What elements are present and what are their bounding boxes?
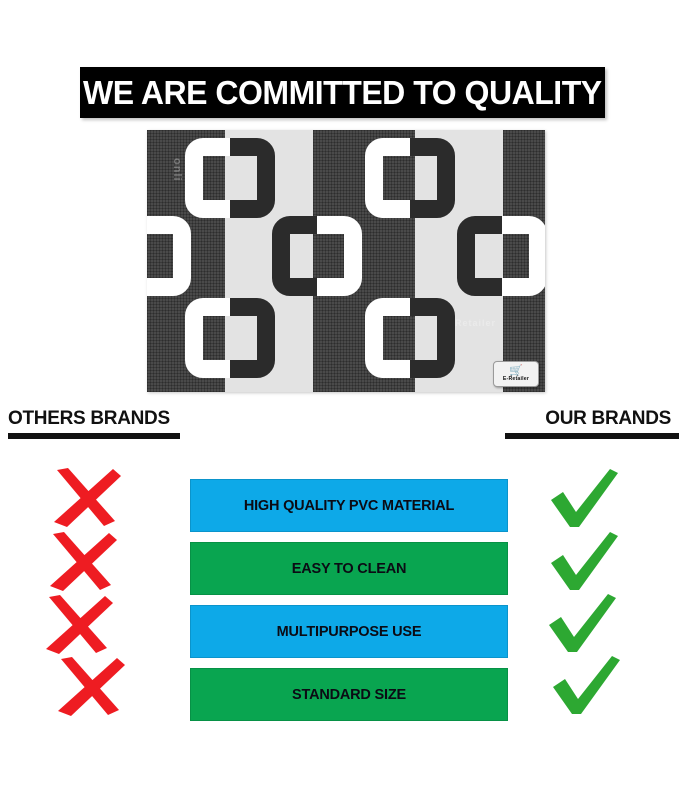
- ring-motif: [365, 138, 410, 218]
- x-mark-icon: [44, 530, 118, 594]
- feature-banner: EASY TO CLEAN: [190, 542, 508, 595]
- others-brands-label: OTHERS BRANDS: [8, 408, 180, 430]
- check-mark-icon: [548, 654, 622, 718]
- feature-label: MULTIPURPOSE USE: [277, 624, 422, 640]
- page-title: WE ARE COMMITTED TO QUALITY: [83, 74, 602, 112]
- header-underline: [505, 433, 679, 439]
- feature-label: STANDARD SIZE: [292, 687, 406, 703]
- ring-motif: [185, 298, 230, 378]
- mat-pattern: onli Retailer 🛒 E-Retailer: [147, 130, 545, 392]
- title-banner: WE ARE COMMITTED TO QUALITY: [80, 67, 605, 118]
- brand-name: E-Retailer: [503, 376, 529, 382]
- x-mark-icon: [52, 655, 126, 719]
- check-mark-icon: [546, 530, 620, 594]
- ring-motif: [502, 216, 545, 296]
- infographic-page: WE ARE COMMITTED TO QUALITY: [0, 0, 683, 800]
- feature-label: EASY TO CLEAN: [292, 561, 407, 577]
- ring-motif: [410, 138, 455, 218]
- x-mark-icon: [48, 466, 122, 530]
- header-underline: [8, 433, 180, 439]
- column-header-ours: OUR BRANDS: [505, 408, 679, 439]
- watermark-text: onli: [171, 158, 183, 182]
- watermark-text: Retailer: [455, 318, 496, 328]
- ring-motif: [410, 298, 455, 378]
- feature-banner: MULTIPURPOSE USE: [190, 605, 508, 658]
- ring-motif: [272, 216, 317, 296]
- brand-logo-badge: 🛒 E-Retailer: [493, 361, 539, 387]
- ring-motif: [457, 216, 502, 296]
- product-image: onli Retailer 🛒 E-Retailer: [147, 130, 545, 392]
- ring-motif: [230, 138, 275, 218]
- ring-motif: [317, 216, 362, 296]
- check-mark-icon: [544, 592, 618, 656]
- ring-motif: [185, 138, 230, 218]
- our-brands-label: OUR BRANDS: [505, 408, 679, 430]
- column-header-others: OTHERS BRANDS: [8, 408, 180, 439]
- x-mark-icon: [40, 593, 114, 657]
- feature-label: HIGH QUALITY PVC MATERIAL: [244, 498, 454, 514]
- feature-banner: STANDARD SIZE: [190, 668, 508, 721]
- check-mark-icon: [546, 467, 620, 531]
- ring-motif: [230, 298, 275, 378]
- feature-banner: HIGH QUALITY PVC MATERIAL: [190, 479, 508, 532]
- ring-motif: [147, 216, 191, 296]
- ring-motif: [365, 298, 410, 378]
